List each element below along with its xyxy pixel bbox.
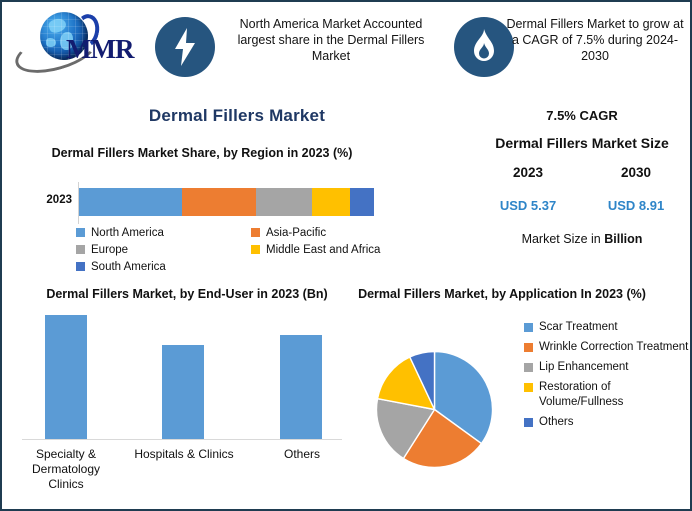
application-chart-title: Dermal Fillers Market, by Application In… <box>354 286 650 303</box>
legend-label: Europe <box>91 244 128 256</box>
legend-swatch-icon <box>76 245 85 254</box>
enduser-chart-title: Dermal Fillers Market, by End-User in 20… <box>27 286 347 303</box>
region-segment-1 <box>182 188 256 216</box>
legend-swatch-icon <box>251 228 260 237</box>
market-size-value-2030: USD 8.91 <box>588 198 684 213</box>
legend-swatch-icon <box>76 228 85 237</box>
region-segment-3 <box>312 188 350 216</box>
legend-label: Wrinkle Correction Treatment <box>539 340 688 355</box>
legend-item: Asia-Pacific <box>251 225 411 240</box>
market-size-title: Dermal Fillers Market Size <box>474 135 690 151</box>
enduser-category-label: Specialty & Dermatology Clinics <box>14 447 118 492</box>
legend-swatch-icon <box>524 323 533 332</box>
legend-item: Middle East and Africa <box>251 242 411 257</box>
enduser-bar <box>162 345 204 439</box>
region-segment-2 <box>256 188 312 216</box>
enduser-chart-baseline <box>22 439 342 440</box>
legend-item: South America <box>76 259 251 274</box>
market-size-year-2023: 2023 <box>480 165 576 180</box>
enduser-category-label: Others <box>242 447 362 462</box>
page-title: Dermal Fillers Market <box>2 106 472 126</box>
enduser-category-label: Hospitals & Clinics <box>106 447 262 462</box>
market-size-unit: Billion <box>604 232 642 246</box>
legend-label: North America <box>91 227 164 239</box>
legend-item: North America <box>76 225 251 240</box>
legend-swatch-icon <box>524 343 533 352</box>
header-note-cagr: Dermal Fillers Market to grow at a CAGR … <box>502 16 688 64</box>
legend-swatch-icon <box>524 363 533 372</box>
lightning-bolt-icon <box>155 17 215 77</box>
region-segment-0 <box>79 188 182 216</box>
legend-item: Europe <box>76 242 251 257</box>
legend-label: Lip Enhancement <box>539 360 629 375</box>
region-segment-4 <box>350 188 374 216</box>
cagr-value: 7.5% CAGR <box>474 108 690 123</box>
legend-swatch-icon <box>524 418 533 427</box>
legend-item: Restoration of Volume/Fullness <box>524 380 690 410</box>
logo-wordmark: MMR <box>66 34 133 65</box>
infographic-page: MMR North America Market Accounted large… <box>0 0 692 511</box>
market-size-unit-note: Market Size in Billion <box>474 232 690 246</box>
header-note-north-america: North America Market Accounted largest s… <box>220 16 442 64</box>
legend-item: Lip Enhancement <box>524 360 690 375</box>
region-chart-title: Dermal Fillers Market Share, by Region i… <box>32 145 372 162</box>
legend-label: Asia-Pacific <box>266 227 326 239</box>
region-chart-category-label: 2023 <box>20 194 72 206</box>
legend-item: Others <box>524 415 690 430</box>
application-chart-legend: Scar TreatmentWrinkle Correction Treatme… <box>524 320 690 435</box>
legend-label: Restoration of Volume/Fullness <box>539 380 690 410</box>
legend-label: Others <box>539 415 574 430</box>
region-chart-legend: North AmericaAsia-PacificEuropeMiddle Ea… <box>76 225 386 274</box>
legend-label: South America <box>91 261 166 273</box>
legend-label: Scar Treatment <box>539 320 618 335</box>
legend-swatch-icon <box>76 262 85 271</box>
application-pie-chart <box>376 351 493 468</box>
mmr-logo: MMR <box>12 10 142 72</box>
legend-label: Middle East and Africa <box>266 244 380 256</box>
region-stacked-bar <box>79 188 374 216</box>
enduser-bar <box>45 315 87 439</box>
legend-item: Scar Treatment <box>524 320 690 335</box>
market-size-value-2023: USD 5.37 <box>480 198 576 213</box>
legend-item: Wrinkle Correction Treatment <box>524 340 690 355</box>
market-size-unit-prefix: Market Size in <box>522 232 605 246</box>
legend-swatch-icon <box>251 245 260 254</box>
market-size-year-2030: 2030 <box>588 165 684 180</box>
legend-swatch-icon <box>524 383 533 392</box>
enduser-bar <box>280 335 322 439</box>
